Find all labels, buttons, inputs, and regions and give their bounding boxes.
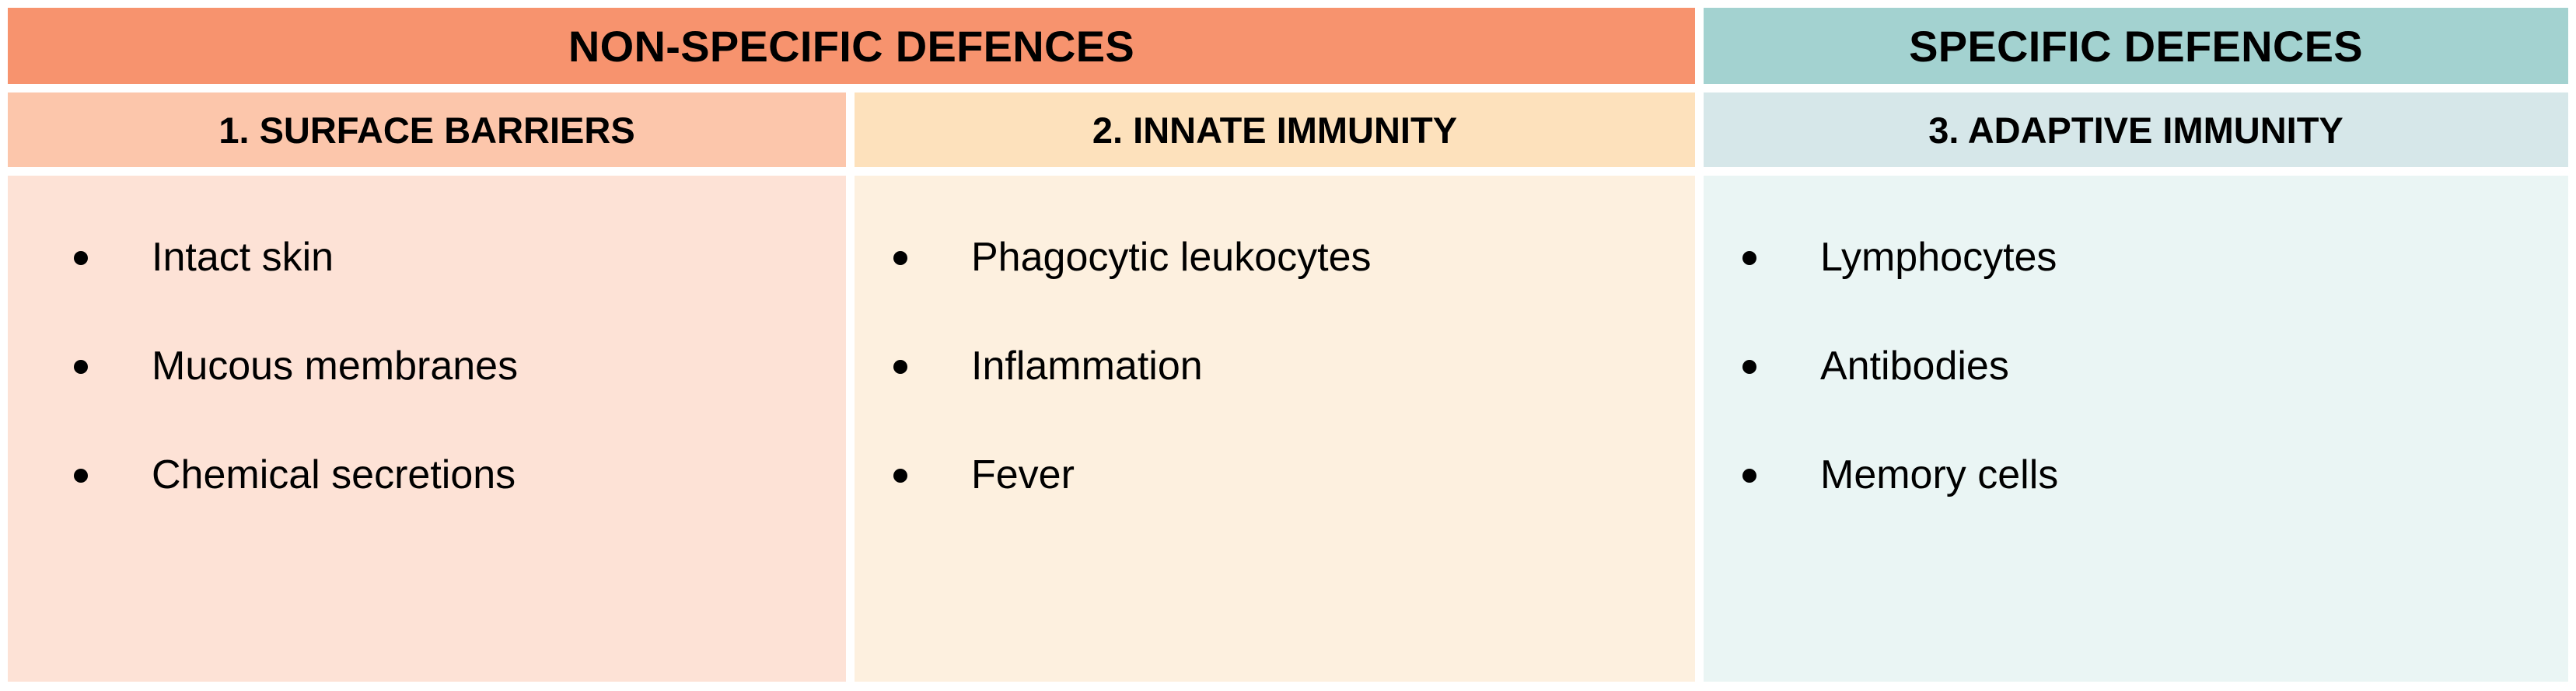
bullet-dot-icon [893, 360, 907, 374]
bullet-list-surface-barriers: Intact skin Mucous membranes Chemical se… [31, 204, 823, 530]
column-body-row: Intact skin Mucous membranes Chemical se… [8, 176, 2568, 682]
bullet-dot-icon [1742, 251, 1756, 265]
column-header-row: 1. SURFACE BARRIERS 2. INNATE IMMUNITY 3… [8, 92, 2568, 167]
list-item-label: Lymphocytes [1820, 236, 2057, 280]
column-header-surface-barriers: 1. SURFACE BARRIERS [8, 92, 846, 167]
column-body-surface-barriers: Intact skin Mucous membranes Chemical se… [8, 176, 846, 682]
group-header-non-specific-defences: NON-SPECIFIC DEFENCES [8, 8, 1695, 84]
list-item: Intact skin [31, 204, 823, 312]
list-item-label: Phagocytic leukocytes [971, 236, 1372, 280]
list-item: Fever [878, 421, 1672, 530]
column-body-adaptive-immunity: Lymphocytes Antibodies Memory cells [1704, 176, 2568, 682]
row-divider-1 [8, 84, 2568, 92]
list-item-label: Mucous membranes [152, 344, 518, 389]
group-header-specific-label: SPECIFIC DEFENCES [1909, 21, 2363, 72]
list-item: Mucous membranes [31, 312, 823, 421]
bullet-dot-icon [74, 251, 88, 265]
bullet-dot-icon [74, 469, 88, 483]
list-item: Memory cells [1727, 421, 2545, 530]
column-body-innate-immunity: Phagocytic leukocytes Inflammation Fever [855, 176, 1695, 682]
defences-table: NON-SPECIFIC DEFENCES SPECIFIC DEFENCES … [8, 8, 2568, 682]
column-header-innate-immunity-label: 2. INNATE IMMUNITY [1092, 109, 1457, 152]
column-header-surface-barriers-label: 1. SURFACE BARRIERS [218, 109, 634, 152]
list-item-label: Memory cells [1820, 453, 2058, 497]
bullet-dot-icon [893, 251, 907, 265]
column-header-innate-immunity: 2. INNATE IMMUNITY [855, 92, 1695, 167]
list-item-label: Antibodies [1820, 344, 2009, 389]
bullet-dot-icon [1742, 360, 1756, 374]
list-item-label: Fever [971, 453, 1075, 497]
list-item-label: Inflammation [971, 344, 1203, 389]
group-header-specific-defences: SPECIFIC DEFENCES [1704, 8, 2568, 84]
list-item: Antibodies [1727, 312, 2545, 421]
list-item: Phagocytic leukocytes [878, 204, 1672, 312]
bullet-dot-icon [1742, 469, 1756, 483]
bullet-dot-icon [74, 360, 88, 374]
row-divider-2 [8, 167, 2568, 176]
bullet-list-innate-immunity: Phagocytic leukocytes Inflammation Fever [878, 204, 1672, 530]
list-item-label: Intact skin [152, 236, 334, 280]
list-item-label: Chemical secretions [152, 453, 516, 497]
group-header-row: NON-SPECIFIC DEFENCES SPECIFIC DEFENCES [8, 8, 2568, 84]
bullet-dot-icon [893, 469, 907, 483]
column-header-adaptive-immunity-label: 3. ADAPTIVE IMMUNITY [1928, 109, 2344, 152]
list-item: Chemical secretions [31, 421, 823, 530]
group-header-non-specific-label: NON-SPECIFIC DEFENCES [568, 21, 1134, 72]
column-header-adaptive-immunity: 3. ADAPTIVE IMMUNITY [1704, 92, 2568, 167]
list-item: Inflammation [878, 312, 1672, 421]
list-item: Lymphocytes [1727, 204, 2545, 312]
bullet-list-adaptive-immunity: Lymphocytes Antibodies Memory cells [1727, 204, 2545, 530]
